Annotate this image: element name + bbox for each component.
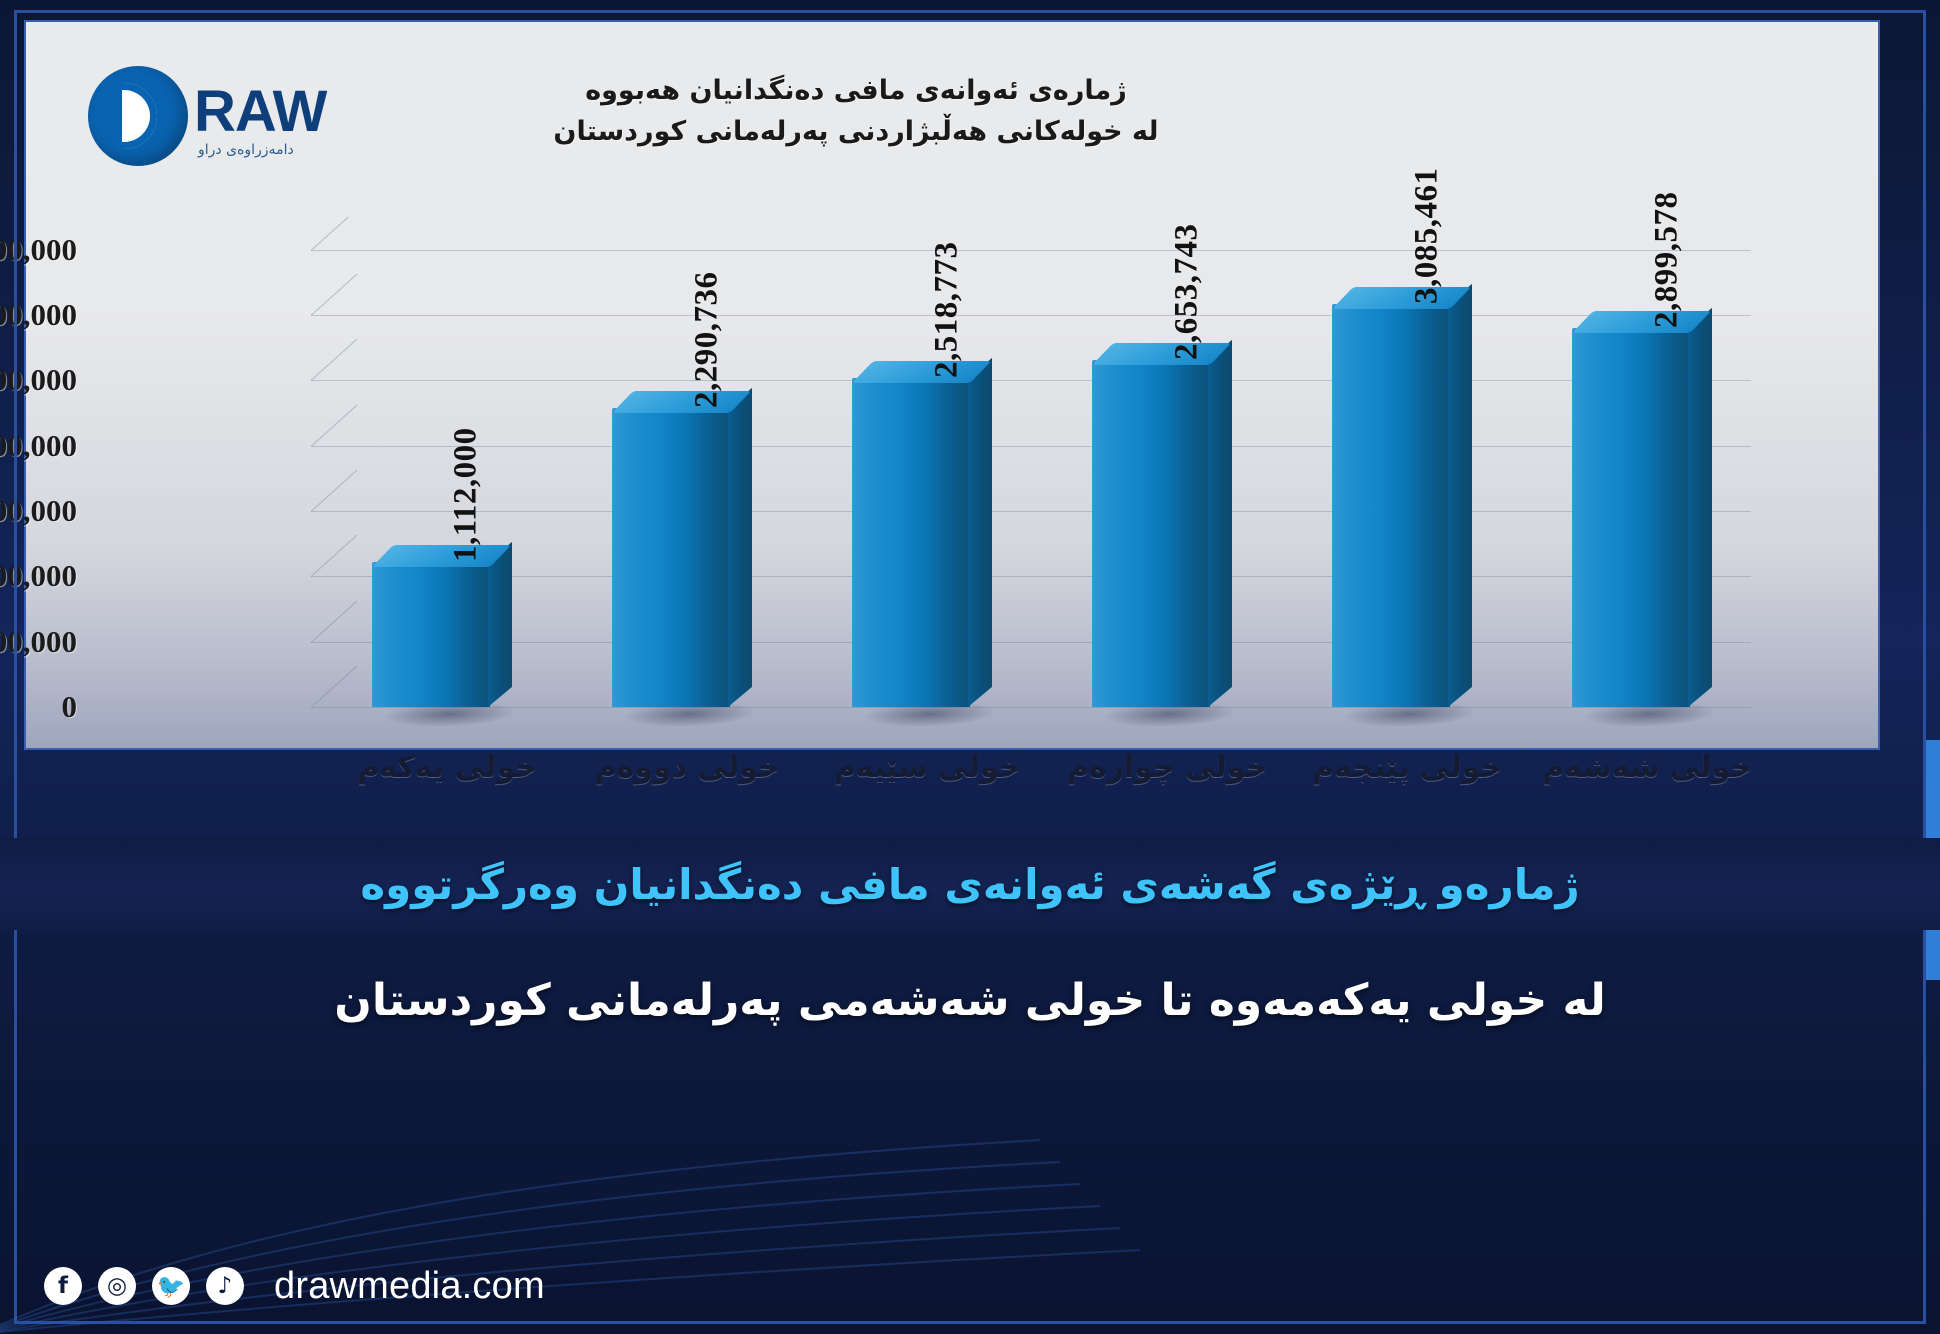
chart-title-line-1: ژمارەی ئەوانەی مافی دەنگدانیان هەبووە: [496, 70, 1216, 111]
bar-top-face: [1092, 343, 1231, 365]
chart-panel: RAW دامەزراوەی دراو ژمارەی ئەوانەی مافی …: [24, 20, 1880, 750]
caption-blue: ژمارەو ڕێژەی گەشەی ئەوانەی مافی دەنگدانی…: [0, 838, 1940, 930]
facebook-icon[interactable]: f: [44, 1267, 82, 1305]
bar-front-face: [852, 378, 970, 707]
x-axis-category-label: خولی یەکەم: [357, 750, 537, 785]
x-axis-category-label: خولی سێیەم: [834, 750, 1021, 785]
depth-gridline: [311, 339, 357, 381]
bar-side-face: [1208, 340, 1232, 707]
depth-gridline: [311, 600, 357, 642]
bar-value-label: 2,653,743: [1168, 224, 1205, 361]
x-axis-category-label: خولی دووەم: [595, 750, 780, 785]
chart-title-line-2: لە خولەکانی هەڵبژاردنی پەرلەمانی کوردستا…: [496, 111, 1216, 152]
caption-blue-text: ژمارەو ڕێژەی گەشەی ئەوانەی مافی دەنگدانی…: [360, 860, 1579, 909]
logo-circle-icon: [88, 66, 188, 166]
bar-front-face: [1332, 304, 1450, 707]
caption-white-text: لە خولی یەکەمەوە تا خولی شەشەمی پەرلەمان…: [334, 975, 1605, 1026]
depth-gridline: [311, 666, 357, 707]
bar[interactable]: 1,112,000: [372, 562, 490, 707]
y-axis-tick-label: 0: [62, 689, 78, 725]
social-links: f◎🐦♪: [44, 1267, 244, 1305]
bar-value-label: 2,290,736: [688, 271, 725, 408]
bar[interactable]: 2,899,578: [1572, 328, 1690, 707]
y-axis-tick-label: 1,000,000: [0, 558, 77, 594]
bar-side-face: [488, 542, 512, 707]
logo-letter-d: [118, 88, 156, 144]
depth-lines: [311, 217, 1751, 707]
chart-title: ژمارەی ئەوانەی مافی دەنگدانیان هەبووە لە…: [496, 70, 1216, 152]
bar-side-face: [1688, 308, 1712, 707]
poster-root: RAW دامەزراوەی دراو ژمارەی ئەوانەی مافی …: [0, 0, 1940, 1334]
draw-logo: RAW دامەزراوەی دراو: [86, 60, 376, 175]
bar[interactable]: 3,085,461: [1332, 304, 1450, 707]
depth-gridline: [311, 217, 357, 251]
website-url[interactable]: drawmedia.com: [274, 1265, 545, 1308]
y-axis-tick-label: 2,000,000: [0, 428, 77, 464]
bar-side-face: [1448, 284, 1472, 707]
bar-side-face: [728, 388, 752, 707]
bar-value-label: 3,085,461: [1408, 167, 1445, 304]
depth-gridline: [311, 470, 357, 512]
bar-top-face: [852, 361, 991, 383]
bar-front-face: [1572, 328, 1690, 707]
x-axis-category-label: خولی پێنجەم: [1312, 750, 1502, 785]
depth-gridline: [311, 404, 357, 446]
bar-front-face: [612, 408, 730, 707]
x-axis-labels: خولی یەکەمخولی دووەمخولی سێیەمخولی چوارە…: [24, 750, 1880, 834]
bar-side-face: [968, 358, 992, 707]
bar-top-face: [612, 391, 751, 413]
bar-front-face: [1092, 360, 1210, 707]
y-axis-tick-label: 500,000: [0, 624, 77, 660]
y-axis-tick-label: 1,500,000: [0, 493, 77, 529]
bar-value-label: 2,899,578: [1648, 192, 1685, 329]
bar-top-face: [372, 545, 511, 567]
depth-gridline: [311, 535, 357, 577]
bar-front-face: [372, 562, 490, 707]
depth-gridline: [311, 274, 357, 316]
twitter-icon[interactable]: 🐦: [152, 1267, 190, 1305]
bar[interactable]: 2,653,743: [1092, 360, 1210, 707]
bar[interactable]: 2,290,736: [612, 408, 730, 707]
bar-top-face: [1332, 287, 1471, 309]
y-axis-tick-label: 3,000,000: [0, 297, 77, 333]
bar[interactable]: 2,518,773: [852, 378, 970, 707]
y-axis-tick-label: 2,500,000: [0, 362, 77, 398]
tiktok-icon[interactable]: ♪: [206, 1267, 244, 1305]
x-axis-category-label: خولی شەشەم: [1542, 750, 1752, 785]
logo-subtitle: دامەزراوەی دراو: [198, 142, 294, 158]
instagram-icon[interactable]: ◎: [98, 1267, 136, 1305]
gridline: [311, 707, 1751, 708]
bar-value-label: 2,518,773: [928, 241, 965, 378]
footer: f◎🐦♪ drawmedia.com: [0, 1238, 1940, 1334]
bar-top-face: [1572, 311, 1711, 333]
bar-value-label: 1,112,000: [447, 427, 484, 562]
x-axis-category-label: خولی چوارەم: [1067, 750, 1267, 785]
y-axis-tick-label: 3,500,000: [0, 232, 77, 268]
plot-area: 3,500,0003,000,0002,500,0002,000,0001,50…: [311, 217, 1751, 707]
logo-wordmark: RAW: [194, 78, 326, 145]
